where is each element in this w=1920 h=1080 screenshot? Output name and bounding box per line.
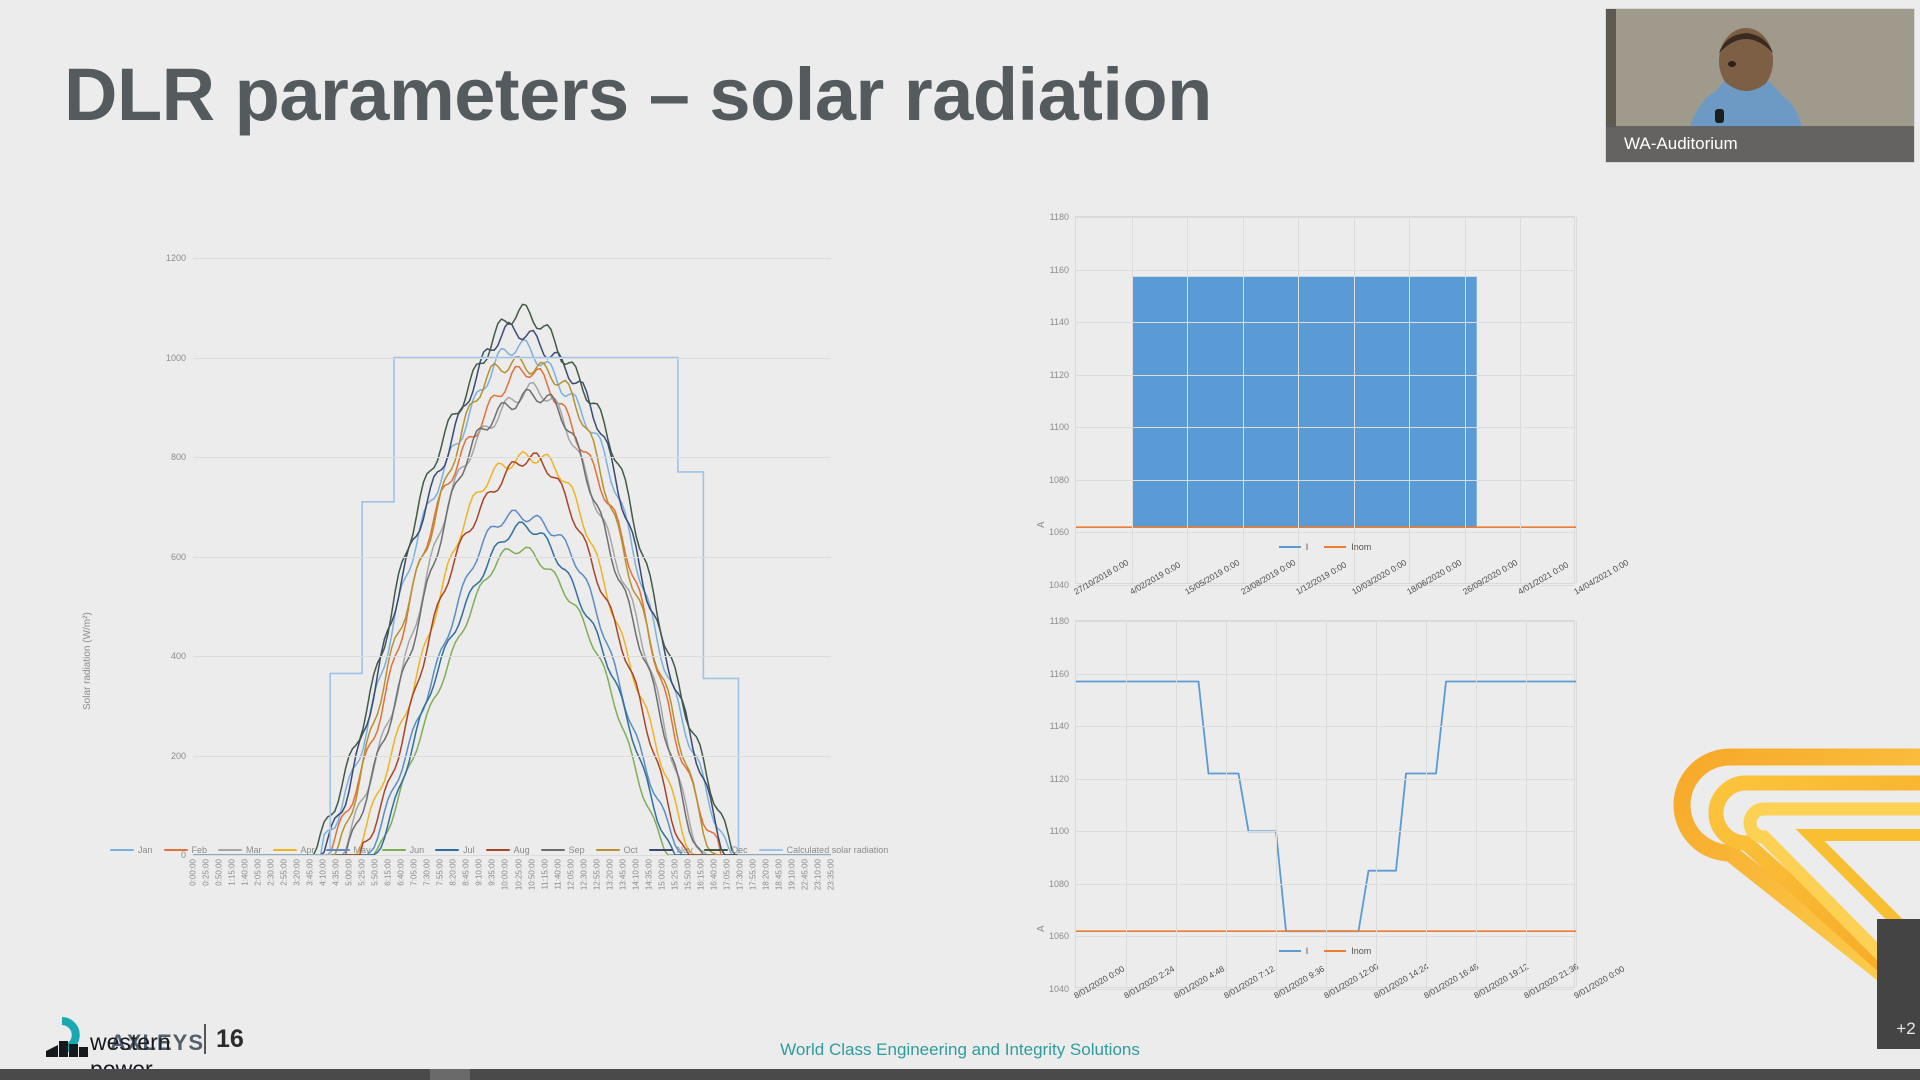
y-axis-tick: 1100 bbox=[1050, 422, 1069, 432]
y-axis-tick: 1140 bbox=[1050, 721, 1069, 731]
gridline bbox=[193, 557, 831, 558]
legend-label: I bbox=[1306, 542, 1309, 552]
gridline bbox=[1298, 217, 1299, 583]
x-axis-tick: 9:35:00 bbox=[488, 859, 497, 886]
legend-swatch bbox=[649, 849, 673, 852]
legend-item: Jun bbox=[382, 845, 425, 855]
gridline bbox=[1076, 936, 1574, 937]
x-axis-tick: 17:05:00 bbox=[722, 859, 731, 890]
x-axis-tick: 13:20:00 bbox=[605, 859, 614, 890]
legend-swatch bbox=[110, 849, 134, 852]
x-axis-tick: 8:45:00 bbox=[462, 859, 471, 886]
legend-label: Nov bbox=[677, 845, 693, 855]
y-axis-tick: 1160 bbox=[1050, 265, 1069, 275]
x-axis-tick: 0:25:00 bbox=[202, 859, 211, 886]
y-axis-tick: 800 bbox=[171, 452, 186, 462]
legend-label: Oct bbox=[624, 845, 638, 855]
x-axis-tick: 18:20:00 bbox=[761, 859, 770, 890]
gridline bbox=[1076, 480, 1574, 481]
y-axis-tick: 1080 bbox=[1049, 475, 1069, 485]
legend-label: Calculated solar radiation bbox=[787, 845, 889, 855]
gridline bbox=[1409, 217, 1410, 583]
footer-tagline: World Class Engineering and Integrity So… bbox=[0, 1040, 1920, 1060]
legend-swatch bbox=[326, 849, 350, 852]
gridline bbox=[1076, 779, 1574, 780]
window-bottom-bar bbox=[0, 1069, 1920, 1080]
x-axis-tick: 11:15:00 bbox=[540, 859, 549, 890]
y-axis-tick: 1180 bbox=[1050, 616, 1069, 626]
legend-label: I bbox=[1306, 946, 1309, 956]
legend-item: Apr bbox=[273, 845, 315, 855]
legend-swatch bbox=[382, 849, 406, 852]
x-axis-tick: 17:30:00 bbox=[735, 859, 744, 890]
solar-plot-area: 0200400600800100012000:00:000:25:000:50:… bbox=[193, 258, 831, 855]
participants-overflow-badge[interactable]: +2 bbox=[1877, 919, 1920, 1049]
x-axis-tick: 5:25:00 bbox=[358, 859, 367, 886]
x-axis-tick: 10:00:00 bbox=[501, 859, 510, 890]
gridline bbox=[1276, 621, 1277, 987]
legend-item: I bbox=[1279, 542, 1309, 552]
x-axis-tick: 18:45:00 bbox=[774, 859, 783, 890]
y-axis-tick: 1160 bbox=[1050, 669, 1069, 679]
gridline bbox=[1426, 621, 1427, 987]
legend-item: Aug bbox=[486, 845, 530, 855]
legend-item: Mar bbox=[218, 845, 262, 855]
y-axis-tick: 1040 bbox=[1049, 580, 1069, 590]
x-axis-tick: 7:55:00 bbox=[436, 859, 445, 886]
gridline bbox=[1176, 621, 1177, 987]
y-axis-tick: 1060 bbox=[1049, 527, 1069, 537]
x-axis-tick: 15:50:00 bbox=[683, 859, 692, 890]
legend-label: Apr bbox=[301, 845, 315, 855]
gridline bbox=[193, 756, 831, 757]
logo-secondary-text: AXLEYS bbox=[110, 1030, 204, 1056]
y-axis-tick: 1200 bbox=[166, 253, 186, 263]
legend-item: Calculated solar radiation bbox=[759, 845, 889, 855]
y-axis-tick: 1080 bbox=[1049, 879, 1069, 889]
impact-chart-legend: IInom bbox=[1075, 542, 1575, 552]
legend-item: Oct bbox=[596, 845, 638, 855]
x-axis-tick: 14:35:00 bbox=[644, 859, 653, 890]
x-axis-tick: 19:10:00 bbox=[787, 859, 796, 890]
gridline bbox=[1465, 217, 1466, 583]
y-axis-tick: 1100 bbox=[1050, 826, 1069, 836]
x-axis-tick: 17:55:00 bbox=[748, 859, 757, 890]
solar-chart-legend: JanFebMarAprMayJunJulAugSepOctNovDecCalc… bbox=[110, 845, 810, 855]
legend-label: Inom bbox=[1351, 542, 1371, 552]
x-axis-tick: 7:05:00 bbox=[410, 859, 419, 886]
legend-label: May bbox=[354, 845, 371, 855]
gridline bbox=[1076, 884, 1574, 885]
legend-item: Jan bbox=[110, 845, 153, 855]
gridline bbox=[1076, 674, 1574, 675]
x-axis-tick: 12:30:00 bbox=[579, 859, 588, 890]
x-axis-tick: 2:55:00 bbox=[280, 859, 289, 886]
y-axis-tick: 400 bbox=[171, 651, 186, 661]
y-axis-tick: 1180 bbox=[1050, 212, 1069, 222]
x-axis-tick: 1:15:00 bbox=[228, 859, 237, 886]
gridline bbox=[193, 855, 831, 856]
legend-label: Aug bbox=[514, 845, 530, 855]
gridline bbox=[1226, 621, 1227, 987]
legend-item: Feb bbox=[164, 845, 208, 855]
y-axis-tick: 1120 bbox=[1050, 774, 1069, 784]
legend-swatch bbox=[541, 849, 565, 852]
x-axis-tick: 10:25:00 bbox=[514, 859, 523, 890]
gridline bbox=[1520, 217, 1521, 583]
y-axis-tick: 200 bbox=[171, 751, 186, 761]
x-axis-tick: 14:10:00 bbox=[631, 859, 640, 890]
x-axis-tick: 3:45:00 bbox=[306, 859, 315, 886]
x-axis-tick: 0:50:00 bbox=[215, 859, 224, 886]
x-axis-tick: 12:05:00 bbox=[566, 859, 575, 890]
gridline bbox=[1132, 217, 1133, 583]
x-axis-tick: 16:15:00 bbox=[696, 859, 705, 890]
legend-item: May bbox=[326, 845, 371, 855]
legend-item: I bbox=[1279, 946, 1309, 956]
legend-swatch bbox=[704, 849, 728, 852]
video-participant-tile[interactable]: WA-Auditorium bbox=[1605, 8, 1915, 163]
gridline bbox=[1076, 831, 1574, 832]
gridline bbox=[193, 358, 831, 359]
gridline bbox=[1076, 270, 1574, 271]
legend-swatch bbox=[1279, 546, 1301, 548]
gridline bbox=[1076, 375, 1574, 376]
y-axis-tick: 1060 bbox=[1049, 931, 1069, 941]
x-axis-tick: 15:25:00 bbox=[670, 859, 679, 890]
legend-swatch bbox=[218, 849, 242, 852]
impact-day-detail-chart: A 104010601080110011201140116011808/01/2… bbox=[1030, 612, 1630, 1002]
x-axis-tick: 2:30:00 bbox=[267, 859, 276, 886]
legend-swatch bbox=[435, 849, 459, 852]
gridline bbox=[1076, 726, 1574, 727]
day-chart-legend: IInom bbox=[1075, 946, 1575, 956]
legend-swatch bbox=[1324, 950, 1346, 952]
legend-label: Inom bbox=[1351, 946, 1371, 956]
x-axis-tick: 16:40:00 bbox=[709, 859, 718, 890]
x-axis-tick: 0:00:00 bbox=[189, 859, 198, 886]
x-axis-tick: 4:10:00 bbox=[319, 859, 328, 886]
participant-name-label: WA-Auditorium bbox=[1606, 126, 1914, 162]
logo-divider bbox=[204, 1024, 206, 1054]
gridline bbox=[1076, 322, 1574, 323]
gridline bbox=[1076, 427, 1574, 428]
presentation-slide: DLR parameters – solar radiation Solar r… bbox=[0, 0, 1920, 1080]
y-axis-tick: 1140 bbox=[1050, 317, 1069, 327]
y-axis-tick: 1000 bbox=[166, 353, 186, 363]
legend-swatch bbox=[164, 849, 188, 852]
impact-series-svg bbox=[1076, 217, 1576, 585]
legend-label: Mar bbox=[246, 845, 262, 855]
legend-swatch bbox=[759, 849, 783, 852]
gridline bbox=[1076, 217, 1574, 218]
legend-swatch bbox=[486, 849, 510, 852]
x-axis-tick: 5:50:00 bbox=[371, 859, 380, 886]
legend-item: Inom bbox=[1324, 946, 1371, 956]
legend-item: Jul bbox=[435, 845, 475, 855]
impact-plot-area: 1040106010801100112011401160118027/10/20… bbox=[1075, 216, 1575, 584]
legend-swatch bbox=[273, 849, 297, 852]
x-axis-tick: 7:30:00 bbox=[423, 859, 432, 886]
gridline bbox=[1243, 217, 1244, 583]
slide-number: 16 bbox=[216, 1025, 244, 1054]
x-axis-tick: 5:00:00 bbox=[345, 859, 354, 886]
legend-swatch bbox=[1324, 546, 1346, 548]
legend-swatch bbox=[1279, 950, 1301, 952]
x-axis-tick: 6:15:00 bbox=[384, 859, 393, 886]
y-axis-tick: 1120 bbox=[1050, 370, 1069, 380]
legend-label: Dec bbox=[732, 845, 748, 855]
legend-label: Feb bbox=[192, 845, 208, 855]
page-title: DLR parameters – solar radiation bbox=[64, 52, 1564, 137]
x-axis-tick: 2:05:00 bbox=[254, 859, 263, 886]
x-axis-tick: 15:00:00 bbox=[657, 859, 666, 890]
legend-item: Inom bbox=[1324, 542, 1371, 552]
x-axis-tick: 8:20:00 bbox=[449, 859, 458, 886]
x-axis-tick: 3:20:00 bbox=[293, 859, 302, 886]
x-axis-tick: 23:35:00 bbox=[827, 859, 836, 890]
day-plot-area: 104010601080110011201140116011808/01/202… bbox=[1075, 620, 1575, 988]
gridline bbox=[1376, 621, 1377, 987]
solar-y-axis-title: Solar radiation (W/m²) bbox=[82, 612, 93, 710]
gridline bbox=[1526, 621, 1527, 987]
legend-label: Jun bbox=[410, 845, 425, 855]
gridline bbox=[193, 258, 831, 259]
x-axis-tick: 1:40:00 bbox=[241, 859, 250, 886]
legend-item: Sep bbox=[541, 845, 585, 855]
y-axis-tick: 1040 bbox=[1049, 984, 1069, 994]
legend-swatch bbox=[596, 849, 620, 852]
gridline bbox=[1354, 217, 1355, 583]
x-axis-tick: 23:10:00 bbox=[813, 859, 822, 890]
x-axis-tick: 9:10:00 bbox=[475, 859, 484, 886]
impact-jdp-mul-chart: A Impact on JDP-MUL 81 line 104010601080… bbox=[1030, 208, 1630, 598]
gridline bbox=[1326, 621, 1327, 987]
gridline bbox=[1476, 621, 1477, 987]
gridline bbox=[193, 457, 831, 458]
footer-logos: western power AXLEYS 16 bbox=[44, 1014, 244, 1064]
day-y-axis-title: A bbox=[1036, 925, 1047, 932]
x-axis-tick: 4:35:00 bbox=[332, 859, 341, 886]
x-axis-tick: 14/04/2021 0:00 bbox=[1572, 557, 1630, 596]
gridline bbox=[1076, 621, 1574, 622]
legend-item: Nov bbox=[649, 845, 693, 855]
legend-label: Sep bbox=[569, 845, 585, 855]
x-axis-tick: 13:45:00 bbox=[618, 859, 627, 890]
gridline bbox=[193, 656, 831, 657]
x-axis-tick: 6:40:00 bbox=[397, 859, 406, 886]
solar-radiation-chart: Solar radiation (W/m²) 02004006008001000… bbox=[78, 240, 778, 850]
x-axis-tick: 10:50:00 bbox=[527, 859, 536, 890]
gridline bbox=[1187, 217, 1188, 583]
impact-y-axis-title: A bbox=[1036, 521, 1047, 528]
legend-item: Dec bbox=[704, 845, 748, 855]
x-axis-tick: 11:40:00 bbox=[553, 859, 562, 890]
bottom-bar-indicator bbox=[430, 1069, 470, 1080]
gridline bbox=[1576, 621, 1577, 987]
legend-label: Jul bbox=[463, 845, 475, 855]
gridline bbox=[1576, 217, 1577, 583]
x-axis-tick: 22:45:00 bbox=[800, 859, 809, 890]
legend-label: Jan bbox=[138, 845, 153, 855]
gridline bbox=[1076, 532, 1574, 533]
x-axis-tick: 12:55:00 bbox=[592, 859, 601, 890]
gridline bbox=[1126, 621, 1127, 987]
y-axis-tick: 600 bbox=[171, 552, 186, 562]
